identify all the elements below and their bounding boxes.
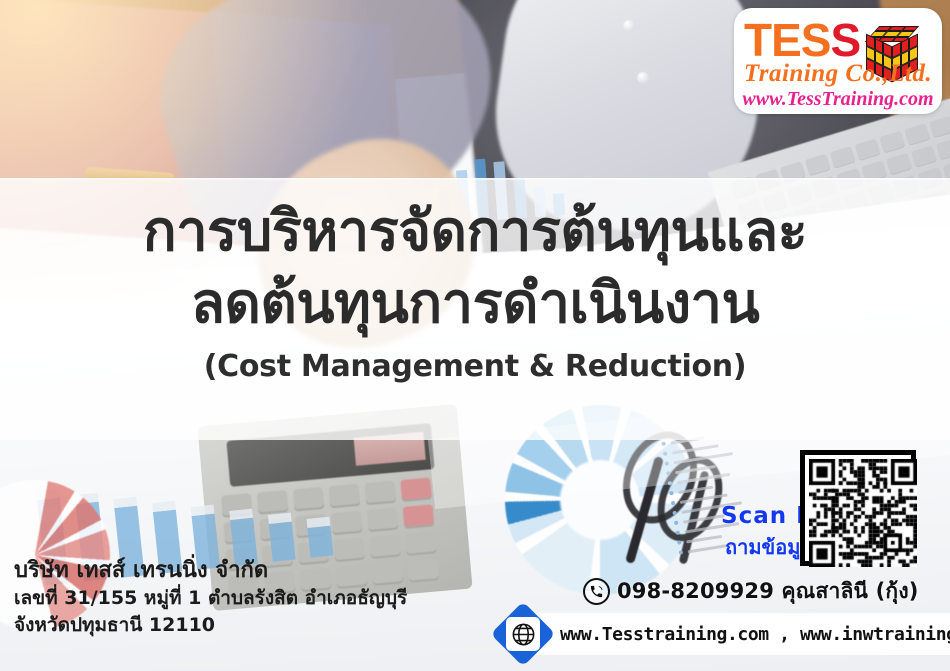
promotional-poster: TESS Training Co.,Ltd. www.TessTraining.… (0, 0, 950, 671)
website-urls: www.Tesstraining.com , www.inwtraining.c… (560, 624, 950, 645)
logo-brand-text: TESS (744, 17, 860, 63)
logo-website: www.TessTraining.com (734, 88, 942, 111)
website-bar[interactable]: www.Tesstraining.com , www.inwtraining.c… (508, 613, 950, 655)
phone-contact-row[interactable]: 098-8209929 คุณสาลินี (กุ้ง) (583, 575, 919, 608)
company-logo[interactable]: TESS Training Co.,Ltd. www.TessTraining.… (734, 8, 942, 114)
title-block: การบริหารจัดการต้นทุนและ ลดต้นทุนการดำเน… (0, 196, 950, 384)
logo-brand-row: TESS (744, 16, 934, 64)
phone-number: 098-8209929 คุณสาลินี (กุ้ง) (617, 575, 919, 608)
company-name: บริษัท เทสส์ เทรนนิ่ง จำกัด (14, 556, 407, 585)
company-address-line-2: จังหวัดปทุมธานี 12110 (14, 612, 407, 639)
title-line-2: ลดต้นทุนการดำเนินงาน (0, 268, 950, 340)
title-line-1: การบริหารจัดการต้นทุนและ (0, 196, 950, 268)
logo-brand-text-part1: TES (744, 14, 830, 66)
band-top-edge (0, 178, 950, 180)
company-address-line-1: เลขที่ 31/155 หมู่ที่ 1 ตำบลรังสิต อำเภอ… (14, 585, 407, 612)
shirt-button (637, 72, 649, 84)
title-subtitle: (Cost Management & Reduction) (0, 349, 950, 384)
company-info-block: บริษัท เทสส์ เทรนนิ่ง จำกัด เลขที่ 31/15… (14, 556, 407, 638)
logo-tagline: Training Co.,Ltd. (734, 60, 942, 88)
shirt-button (623, 20, 635, 32)
logo-brand-text-part2: S (830, 14, 860, 66)
qr-code-icon[interactable] (800, 450, 916, 566)
phone-icon (583, 578, 610, 605)
